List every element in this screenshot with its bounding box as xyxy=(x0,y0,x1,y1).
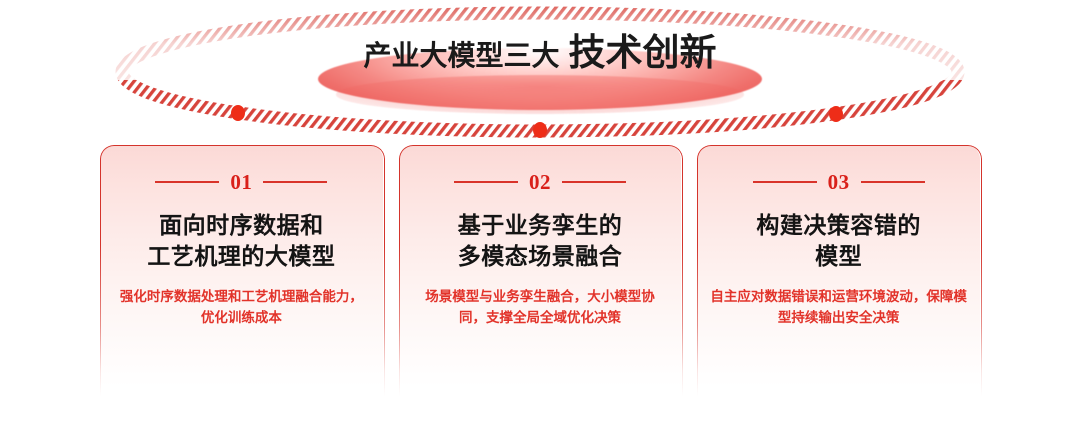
page-title-emphasis: 技术创新 xyxy=(569,32,717,73)
orbit-dot-center xyxy=(533,122,547,138)
rule-left-icon xyxy=(454,181,518,183)
card-02[interactable]: 02 基于业务孪生的 多模态场景融合 场景模型与业务孪生融合，大小模型协同，支撑… xyxy=(399,145,682,395)
card-number: 02 xyxy=(529,172,551,193)
card-01[interactable]: 01 面向时序数据和 工艺机理的大模型 强化时序数据处理和工艺机理融合能力，优化… xyxy=(100,145,383,395)
header-zone: 产业大模型三大技术创新 xyxy=(0,0,1080,145)
card-description: 自主应对数据错误和运营环境波动，保障模型持续输出安全决策 xyxy=(697,286,980,330)
card-content: 02 基于业务孪生的 多模态场景融合 场景模型与业务孪生融合，大小模型协同，支撑… xyxy=(399,145,682,329)
card-title: 面向时序数据和 工艺机理的大模型 xyxy=(100,210,383,273)
card-title-line-1: 基于业务孪生的 xyxy=(409,210,672,241)
card-title-line-1: 构建决策容错的 xyxy=(707,210,970,241)
card-title-line-2: 模型 xyxy=(707,241,970,272)
orbit-dot-left xyxy=(231,105,245,121)
rule-right-icon xyxy=(861,181,925,183)
page-title-lead: 产业大模型三大 xyxy=(363,40,559,71)
card-title: 构建决策容错的 模型 xyxy=(697,210,980,273)
card-03[interactable]: 03 构建决策容错的 模型 自主应对数据错误和运营环境波动，保障模型持续输出安全… xyxy=(697,145,980,395)
card-number: 03 xyxy=(828,172,850,193)
infographic-canvas: 产业大模型三大技术创新 01 面向时序数据和 工艺机理的大模型 强化时序数据处理… xyxy=(0,0,1080,432)
card-number-row: 01 xyxy=(100,171,383,193)
card-content: 01 面向时序数据和 工艺机理的大模型 强化时序数据处理和工艺机理融合能力，优化… xyxy=(100,145,383,329)
rule-right-icon xyxy=(562,181,626,183)
card-title-line-1: 面向时序数据和 xyxy=(110,210,373,241)
card-number-row: 03 xyxy=(697,171,980,193)
card-title: 基于业务孪生的 多模态场景融合 xyxy=(399,210,682,273)
card-description: 强化时序数据处理和工艺机理融合能力，优化训练成本 xyxy=(100,286,383,330)
rule-left-icon xyxy=(155,181,219,183)
card-content: 03 构建决策容错的 模型 自主应对数据错误和运营环境波动，保障模型持续输出安全… xyxy=(697,145,980,329)
card-title-line-2: 多模态场景融合 xyxy=(409,241,672,272)
rule-right-icon xyxy=(263,181,327,183)
rule-left-icon xyxy=(753,181,817,183)
card-number-row: 02 xyxy=(399,171,682,193)
card-description: 场景模型与业务孪生融合，大小模型协同，支撑全局全域优化决策 xyxy=(399,286,682,330)
card-number: 01 xyxy=(230,172,252,193)
card-title-line-2: 工艺机理的大模型 xyxy=(110,241,373,272)
page-title: 产业大模型三大技术创新 xyxy=(0,34,1080,71)
cards-row: 01 面向时序数据和 工艺机理的大模型 强化时序数据处理和工艺机理融合能力，优化… xyxy=(100,145,980,395)
orbit-dot-right xyxy=(829,106,843,122)
